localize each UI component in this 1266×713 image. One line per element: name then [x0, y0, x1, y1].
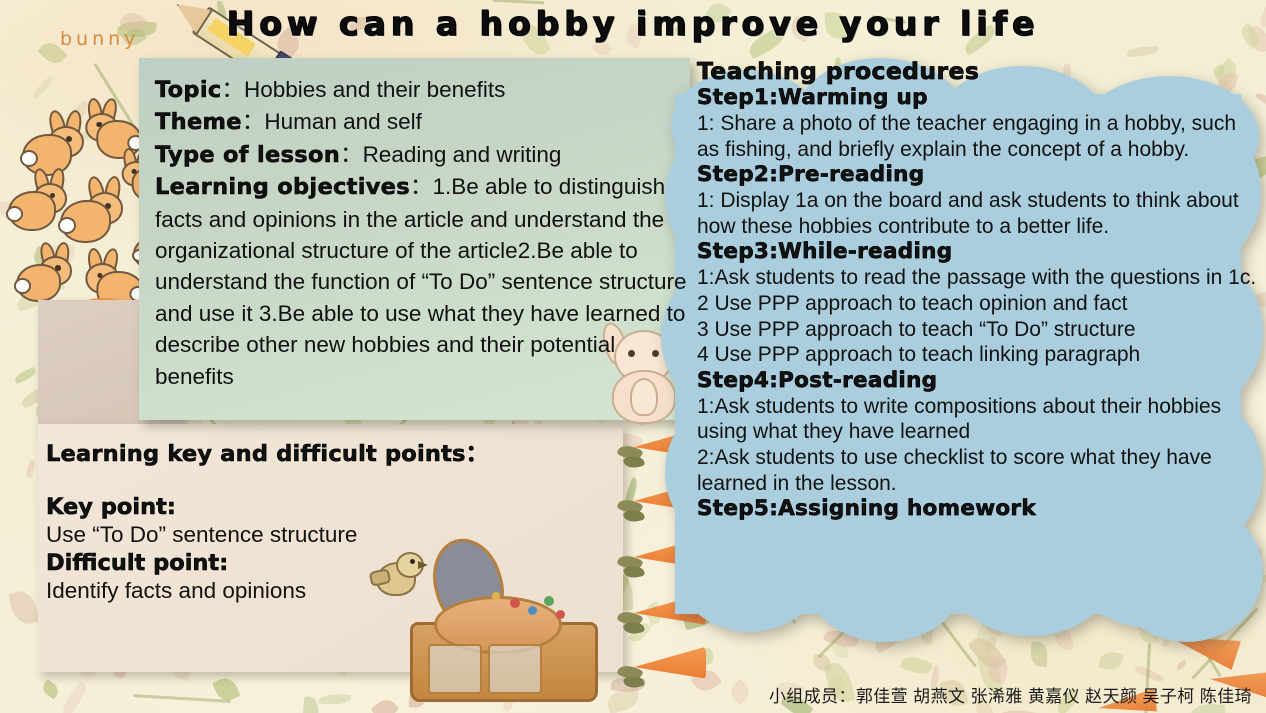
- objectives-value: ：1.Be able to distinguish facts and opin…: [155, 174, 687, 388]
- type-value: ：Reading and writing: [340, 142, 561, 167]
- cloud-bump: [805, 514, 965, 642]
- theme-row: Theme：Human and self: [155, 106, 695, 138]
- leaf-decoration: [13, 367, 38, 385]
- difficult-point-value: Identify facts and opinions: [46, 576, 626, 606]
- type-row: Type of lesson：Reading and writing: [155, 139, 695, 171]
- bunny-watermark: bunny: [60, 28, 139, 50]
- group-members-credits: 小组成员：郭佳萱 胡燕文 张浠雅 黄嘉仪 赵天颜 吴子柯 陈佳琦: [0, 682, 1252, 707]
- procedure-step-title: Step3:While-reading: [697, 239, 1262, 265]
- theme-value: ：Human and self: [242, 109, 422, 134]
- topic-label: Topic: [155, 77, 221, 103]
- leaf-decoration: [1099, 650, 1125, 672]
- leaf-decoration: [24, 459, 37, 478]
- key-point-label: Key point:: [46, 494, 626, 520]
- procedures-heading: Teaching procedures: [697, 58, 1262, 85]
- procedure-step-line: 1:Ask students to write compositions abo…: [697, 394, 1262, 445]
- procedure-step-title: Step5:Assigning homework: [697, 496, 1262, 522]
- poster-canvas: How can a hobby improve your life bunny …: [0, 0, 1266, 713]
- leaf-decoration: [8, 588, 40, 627]
- topic-value: ：Hobbies and their benefits: [221, 77, 505, 102]
- lesson-info-text: Topic：Hobbies and their benefits Theme：H…: [155, 74, 695, 392]
- procedure-step-title: Step4:Post-reading: [697, 368, 1262, 394]
- key-points-text: Learning key and difficult points： Key p…: [46, 436, 626, 606]
- theme-label: Theme: [155, 109, 242, 135]
- topic-row: Topic：Hobbies and their benefits: [155, 74, 695, 106]
- procedure-step-title: Step2:Pre-reading: [697, 162, 1262, 188]
- teaching-procedures-text: Teaching procedures Step1:Warming up 1: …: [697, 58, 1262, 522]
- procedure-step-title: Step1:Warming up: [697, 85, 1262, 111]
- procedure-step-line: 1:Ask students to read the passage with …: [697, 265, 1262, 291]
- procedure-step-line: 1: Display 1a on the board and ask stude…: [697, 188, 1262, 239]
- difficult-point-label: Difficult point:: [46, 550, 626, 576]
- procedure-step-list: Step1:Warming up 1: Share a photo of the…: [697, 85, 1262, 522]
- procedure-step-line: 2 Use PPP approach to teach opinion and …: [697, 291, 1262, 317]
- leaf-decoration: [996, 707, 1042, 713]
- procedure-step-line: 3 Use PPP approach to teach “To Do” stru…: [697, 317, 1262, 343]
- type-label: Type of lesson: [155, 142, 340, 168]
- leaf-decoration: [813, 654, 830, 671]
- leaf-decoration: [899, 653, 933, 678]
- procedure-step-line: 4 Use PPP approach to teach linking para…: [697, 342, 1262, 368]
- key-points-title: Learning key and difficult points：: [46, 436, 626, 468]
- procedure-step-line: 2:Ask students to use checklist to score…: [697, 445, 1262, 496]
- objectives-row: Learning objectives：1.Be able to disting…: [155, 171, 695, 392]
- key-point-value: Use “To Do” sentence structure: [46, 520, 626, 550]
- leaf-decoration: [1175, 659, 1188, 670]
- objectives-label: Learning objectives: [155, 174, 410, 200]
- page-title: How can a hobby improve your life: [0, 4, 1266, 43]
- procedure-step-line: 1: Share a photo of the teacher engaging…: [697, 111, 1262, 162]
